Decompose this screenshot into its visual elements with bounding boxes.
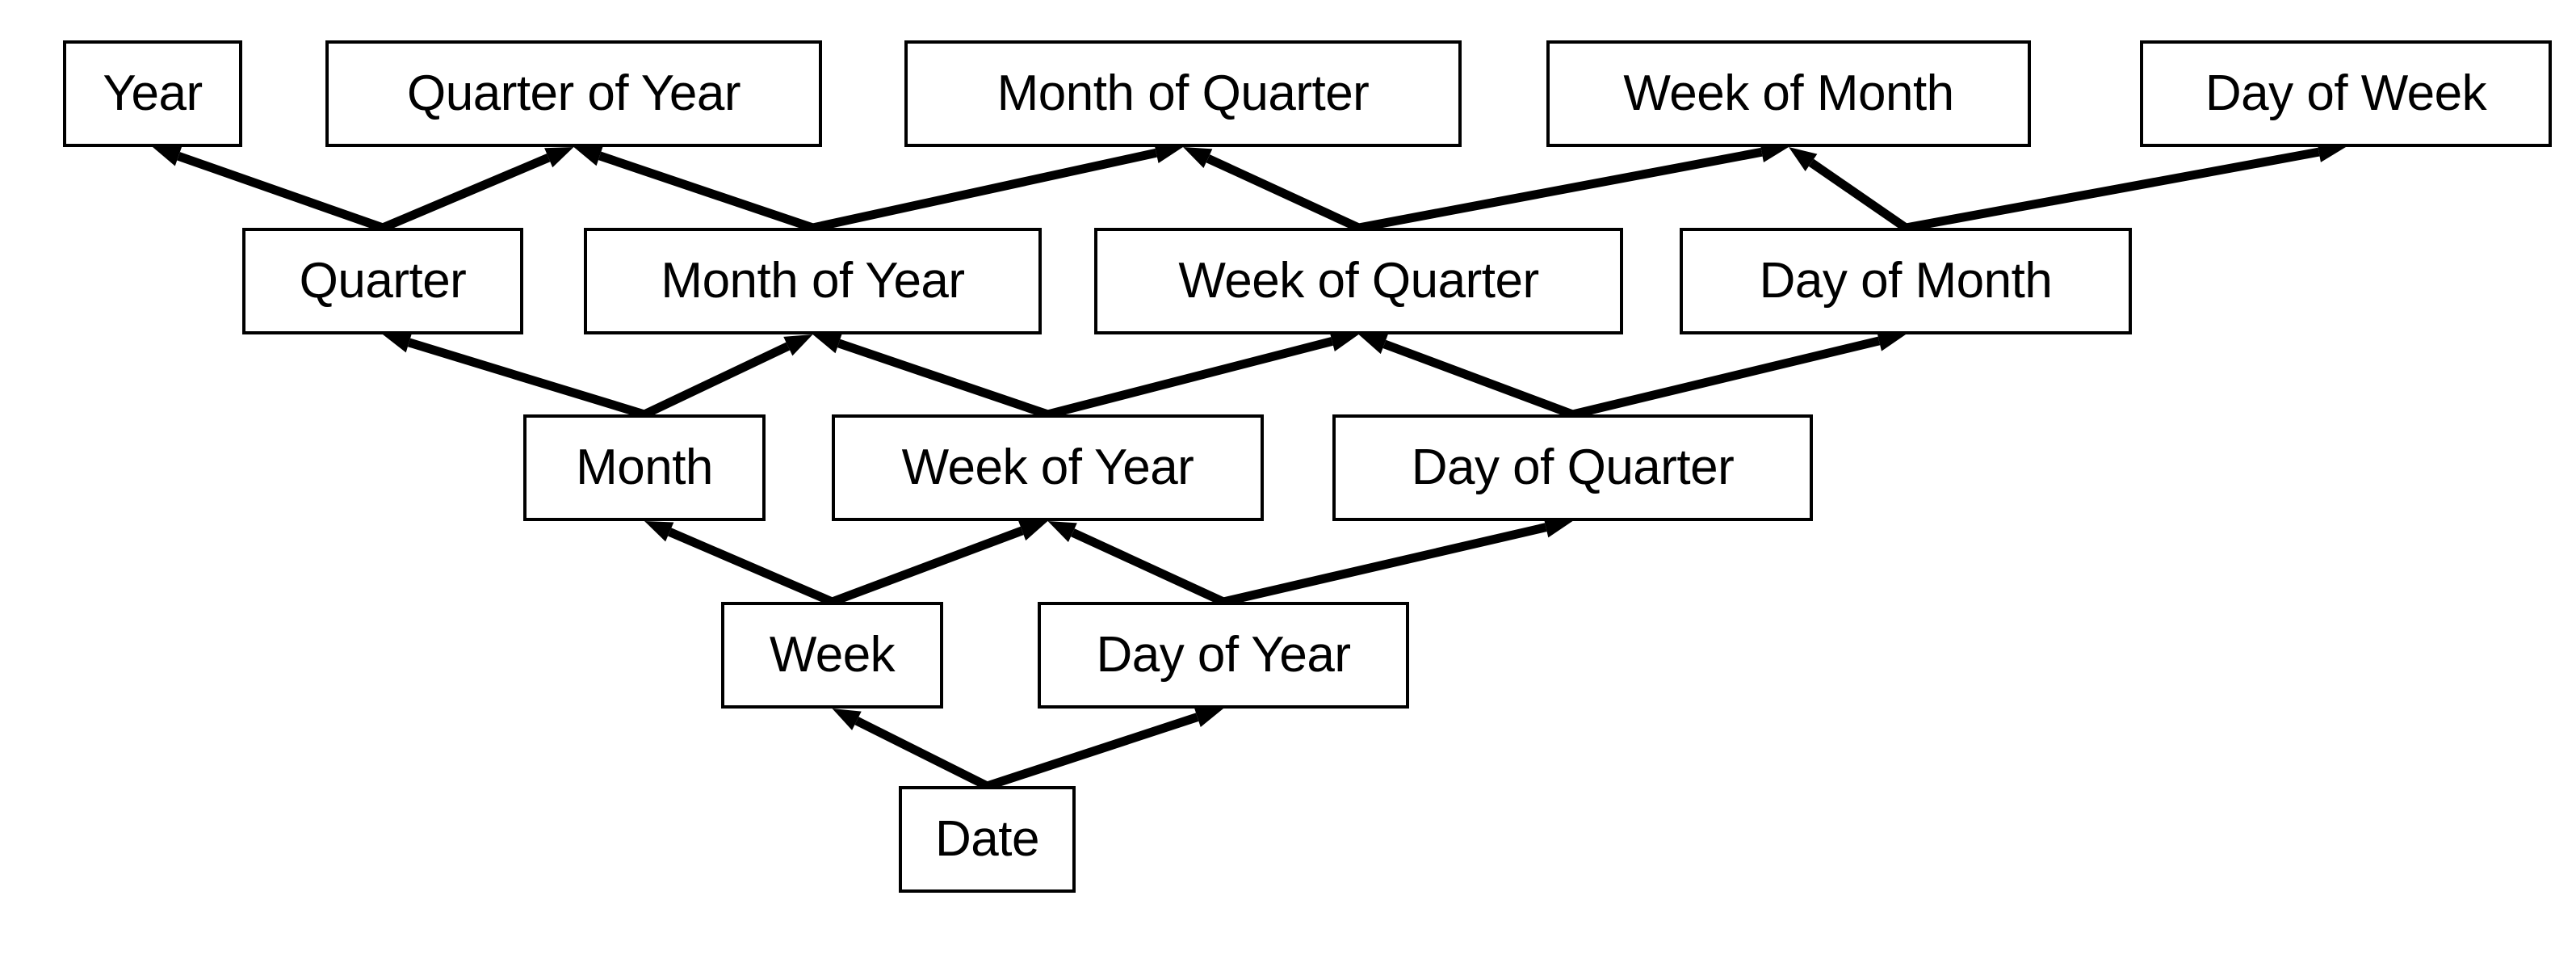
- edge-month_of_year-to-quarter_of_year: [574, 146, 813, 228]
- hierarchy-diagram: YearQuarter of YearMonth of QuarterWeek …: [0, 0, 2576, 963]
- node-month[interactable]: Month: [523, 414, 766, 521]
- node-date[interactable]: Date: [899, 786, 1076, 893]
- node-week_of_year[interactable]: Week of Year: [832, 414, 1264, 521]
- node-month_of_year[interactable]: Month of Year: [584, 228, 1042, 334]
- node-week_of_month[interactable]: Week of Month: [1546, 40, 2031, 147]
- node-label: Year: [103, 69, 202, 119]
- edge-day_of_year-to-week_of_year: [1048, 521, 1224, 602]
- edge-week-to-week_of_year: [833, 521, 1048, 602]
- node-day_of_month[interactable]: Day of Month: [1680, 228, 2132, 334]
- node-quarter_of_year[interactable]: Quarter of Year: [325, 40, 822, 147]
- edge-week_of_quarter-to-week_of_month: [1359, 141, 1789, 228]
- edge-quarter-to-quarter_of_year: [383, 147, 574, 228]
- edge-day_of_month-to-week_of_month: [1789, 147, 1906, 228]
- node-label: Week: [770, 630, 895, 680]
- node-week_of_quarter[interactable]: Week of Quarter: [1094, 228, 1623, 334]
- edge-month-to-month_of_year: [644, 334, 813, 414]
- node-label: Day of Week: [2205, 69, 2486, 119]
- node-label: Day of Quarter: [1412, 443, 1735, 493]
- node-day_of_week[interactable]: Day of Week: [2140, 40, 2552, 147]
- node-month_of_quarter[interactable]: Month of Quarter: [904, 40, 1462, 147]
- node-day_of_quarter[interactable]: Day of Quarter: [1332, 414, 1813, 521]
- node-label: Month of Year: [661, 256, 964, 306]
- node-label: Week of Quarter: [1178, 256, 1538, 306]
- node-label: Month: [576, 443, 713, 493]
- node-label: Date: [935, 814, 1039, 864]
- node-label: Day of Month: [1760, 256, 2053, 306]
- node-week[interactable]: Week: [721, 602, 943, 709]
- edge-quarter-to-year: [153, 146, 383, 228]
- node-label: Quarter: [300, 256, 467, 306]
- edge-day_of_month-to-day_of_week: [1906, 141, 2346, 228]
- node-label: Quarter of Year: [407, 69, 740, 119]
- edge-day_of_year-to-day_of_quarter: [1223, 517, 1573, 602]
- edge-week_of_year-to-week_of_quarter: [1048, 331, 1359, 414]
- edge-day_of_quarter-to-day_of_month: [1573, 330, 1907, 414]
- node-label: Day of Year: [1096, 630, 1350, 680]
- node-label: Week of Month: [1623, 69, 1953, 119]
- node-label: Week of Year: [902, 443, 1194, 493]
- node-quarter[interactable]: Quarter: [242, 228, 523, 334]
- node-year[interactable]: Year: [63, 40, 242, 147]
- node-day_of_year[interactable]: Day of Year: [1038, 602, 1409, 709]
- edge-date-to-day_of_year: [988, 707, 1224, 786]
- edge-week-to-month: [644, 521, 833, 602]
- edge-week_of_year-to-month_of_year: [813, 334, 1048, 414]
- edge-day_of_quarter-to-week_of_quarter: [1359, 334, 1573, 414]
- edge-week_of_quarter-to-month_of_quarter: [1183, 147, 1359, 228]
- edge-date-to-week: [833, 709, 988, 786]
- node-label: Month of Quarter: [997, 69, 1370, 119]
- edge-month-to-quarter: [383, 333, 644, 414]
- edge-month_of_year-to-month_of_quarter: [813, 143, 1184, 228]
